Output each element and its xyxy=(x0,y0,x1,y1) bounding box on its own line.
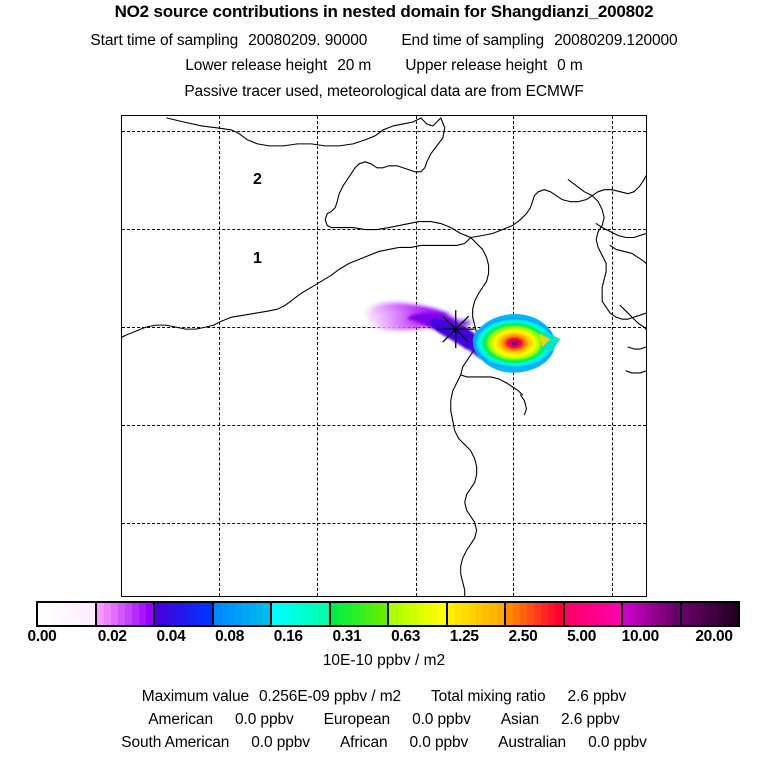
colorbar-step xyxy=(600,603,607,625)
colorbar-step xyxy=(146,603,153,625)
colorbar-tick-3: 0.08 xyxy=(215,628,244,646)
colorbar-step xyxy=(572,603,579,625)
colorbar-step xyxy=(593,603,600,625)
region-american-label: American xyxy=(148,711,213,728)
colorbar-tick-8: 2.50 xyxy=(508,628,537,646)
colorbar-step xyxy=(183,603,190,625)
colorbar-step xyxy=(483,603,490,625)
colorbar-tick-7: 1.25 xyxy=(450,628,479,646)
colorbar-step xyxy=(703,603,710,625)
colorbar-step xyxy=(520,603,527,625)
colorbar-step xyxy=(565,603,572,625)
colorbar-step xyxy=(359,603,366,625)
region-asian-value: 2.6 ppbv xyxy=(561,711,620,728)
colorbar-step xyxy=(87,603,94,625)
domain-label-1: 1 xyxy=(253,250,262,268)
colorbar-tick-0: 0.00 xyxy=(28,628,57,646)
colorbar-step xyxy=(490,603,497,625)
region-australian-value: 0.0 ppbv xyxy=(588,734,647,751)
colorbar-tick-6: 0.63 xyxy=(391,628,420,646)
colorbar-step xyxy=(345,603,352,625)
colorbar-step xyxy=(431,603,438,625)
colorbar-step xyxy=(455,603,462,625)
colorbar-step xyxy=(228,603,235,625)
lower-release-label: Lower release height xyxy=(185,57,327,74)
colorbar-step xyxy=(389,603,396,625)
colorbar-tick-4: 0.16 xyxy=(274,628,303,646)
summary-line-max: Maximum value0.256E-09 ppbv / m2Total mi… xyxy=(0,688,768,706)
release-height-line: Lower release height20 mUpper release he… xyxy=(0,57,768,75)
colorbar-step xyxy=(710,603,717,625)
region-asian-label: Asian xyxy=(501,711,539,728)
colorbar-step xyxy=(176,603,183,625)
colorbar-container xyxy=(36,601,740,627)
colorbar-step xyxy=(132,603,139,625)
colorbar-step xyxy=(424,603,431,625)
colorbar-step xyxy=(242,603,249,625)
start-time-value: 20080209. 90000 xyxy=(248,32,367,49)
colorbar-step xyxy=(614,603,621,625)
colorbar-step xyxy=(579,603,586,625)
colorbar-band-9 xyxy=(565,603,624,625)
colorbar-step xyxy=(155,603,162,625)
colorbar-step xyxy=(331,603,338,625)
colorbar-step xyxy=(637,603,644,625)
colorbar-step xyxy=(555,603,562,625)
colorbar-step xyxy=(293,603,300,625)
max-value-value: 0.256E-09 ppbv / m2 xyxy=(259,688,401,705)
sampling-time-line: Start time of sampling20080209. 90000End… xyxy=(0,32,768,50)
colorbar-step xyxy=(513,603,520,625)
colorbar-step xyxy=(204,603,211,625)
colorbar-step xyxy=(731,603,738,625)
region-south-american-value: 0.0 ppbv xyxy=(251,734,310,751)
summary-line-regions-1: American0.0 ppbvEuropean0.0 ppbvAsian2.6… xyxy=(0,711,768,729)
colorbar-step xyxy=(286,603,293,625)
colorbar-step xyxy=(366,603,373,625)
colorbar-step xyxy=(125,603,132,625)
colorbar-step xyxy=(476,603,483,625)
colorbar-band-1 xyxy=(97,603,156,625)
total-mixing-value: 2.6 ppbv xyxy=(568,688,627,705)
colorbar-step xyxy=(506,603,513,625)
colorbar-step xyxy=(586,603,593,625)
colorbar-step xyxy=(724,603,731,625)
region-australian-label: Australian xyxy=(498,734,566,751)
colorbar-step xyxy=(497,603,504,625)
colorbar-step xyxy=(403,603,410,625)
colorbar-step xyxy=(59,603,66,625)
colorbar-step xyxy=(672,603,679,625)
colorbar-step xyxy=(300,603,307,625)
page-title: NO2 source contributions in nested domai… xyxy=(0,2,768,22)
colorbar-step xyxy=(380,603,387,625)
colorbar-step xyxy=(45,603,52,625)
colorbar-step xyxy=(373,603,380,625)
colorbar-step xyxy=(66,603,73,625)
colorbar-step xyxy=(644,603,651,625)
colorbar-step xyxy=(263,603,270,625)
region-american-value: 0.0 ppbv xyxy=(235,711,294,728)
tracer-note: Passive tracer used, meteorological data… xyxy=(0,83,768,101)
max-value-label: Maximum value xyxy=(142,688,249,705)
colorbar-step xyxy=(689,603,696,625)
colorbar-band-4 xyxy=(272,603,331,625)
colorbar-band-2 xyxy=(155,603,214,625)
upper-release-value: 0 m xyxy=(557,57,583,74)
colorbar-tick-labels: 0.000.020.040.080.160.310.631.252.505.00… xyxy=(0,628,768,648)
colorbar-band-8 xyxy=(506,603,565,625)
colorbar-step xyxy=(111,603,118,625)
colorbar-step xyxy=(197,603,204,625)
colorbar-unit-label: 10E-10 ppbv / m2 xyxy=(0,652,768,670)
colorbar-step xyxy=(352,603,359,625)
plume-footprint xyxy=(122,116,646,596)
colorbar-step xyxy=(314,603,321,625)
colorbar-step xyxy=(448,603,455,625)
region-african-value: 0.0 ppbv xyxy=(409,734,468,751)
colorbar-step xyxy=(139,603,146,625)
colorbar-step xyxy=(118,603,125,625)
colorbar-step xyxy=(52,603,59,625)
colorbar-tick-1: 0.02 xyxy=(98,628,127,646)
colorbar-step xyxy=(221,603,228,625)
start-time-label: Start time of sampling xyxy=(90,32,238,49)
colorbar-step xyxy=(527,603,534,625)
colorbar-step xyxy=(80,603,87,625)
colorbar-step xyxy=(396,603,403,625)
colorbar-tick-9: 5.00 xyxy=(567,628,596,646)
domain-label-2: 2 xyxy=(253,171,262,189)
colorbar-step xyxy=(469,603,476,625)
colorbar-step xyxy=(462,603,469,625)
colorbar-tick-2: 0.04 xyxy=(156,628,185,646)
colorbar-band-5 xyxy=(331,603,390,625)
region-african-label: African xyxy=(340,734,388,751)
colorbar-step xyxy=(541,603,548,625)
colorbar-step xyxy=(682,603,689,625)
colorbar-tick-11: 20.00 xyxy=(695,628,732,646)
colorbar-step xyxy=(235,603,242,625)
colorbar-step xyxy=(630,603,637,625)
lower-release-value: 20 m xyxy=(337,57,371,74)
colorbar-step xyxy=(162,603,169,625)
region-european-label: European xyxy=(324,711,390,728)
colorbar-step xyxy=(438,603,445,625)
total-mixing-label: Total mixing ratio xyxy=(431,688,546,705)
colorbar-step xyxy=(272,603,279,625)
colorbar-band-3 xyxy=(214,603,273,625)
colorbar-step xyxy=(190,603,197,625)
colorbar-step xyxy=(696,603,703,625)
colorbar-step xyxy=(417,603,424,625)
end-time-label: End time of sampling xyxy=(401,32,544,49)
colorbar-step xyxy=(338,603,345,625)
colorbar xyxy=(36,601,740,627)
upper-release-label: Upper release height xyxy=(405,57,547,74)
colorbar-tick-5: 0.31 xyxy=(332,628,361,646)
colorbar-step xyxy=(658,603,665,625)
colorbar-step xyxy=(321,603,328,625)
colorbar-step xyxy=(249,603,256,625)
colorbar-step xyxy=(623,603,630,625)
plot-canvas: NO2 source contributions in nested domai… xyxy=(0,0,768,768)
colorbar-step xyxy=(256,603,263,625)
colorbar-step xyxy=(169,603,176,625)
colorbar-band-10 xyxy=(623,603,682,625)
colorbar-step xyxy=(534,603,541,625)
summary-line-regions-2: South American0.0 ppbvAfrican0.0 ppbvAus… xyxy=(0,734,768,752)
colorbar-step xyxy=(38,603,45,625)
region-south-american-label: South American xyxy=(121,734,229,751)
colorbar-step xyxy=(548,603,555,625)
colorbar-step xyxy=(665,603,672,625)
colorbar-band-0 xyxy=(38,603,97,625)
colorbar-step xyxy=(410,603,417,625)
colorbar-band-7 xyxy=(448,603,507,625)
colorbar-step xyxy=(607,603,614,625)
colorbar-step xyxy=(73,603,80,625)
colorbar-step xyxy=(279,603,286,625)
colorbar-tick-10: 10.00 xyxy=(622,628,659,646)
colorbar-step xyxy=(717,603,724,625)
colorbar-step xyxy=(651,603,658,625)
colorbar-step xyxy=(104,603,111,625)
colorbar-step xyxy=(307,603,314,625)
colorbar-step xyxy=(97,603,104,625)
region-european-value: 0.0 ppbv xyxy=(412,711,471,728)
end-time-value: 20080209.120000 xyxy=(554,32,678,49)
colorbar-step xyxy=(214,603,221,625)
colorbar-band-6 xyxy=(389,603,448,625)
map-plot-area: 2 1 xyxy=(121,115,647,597)
colorbar-band-11 xyxy=(682,603,739,625)
